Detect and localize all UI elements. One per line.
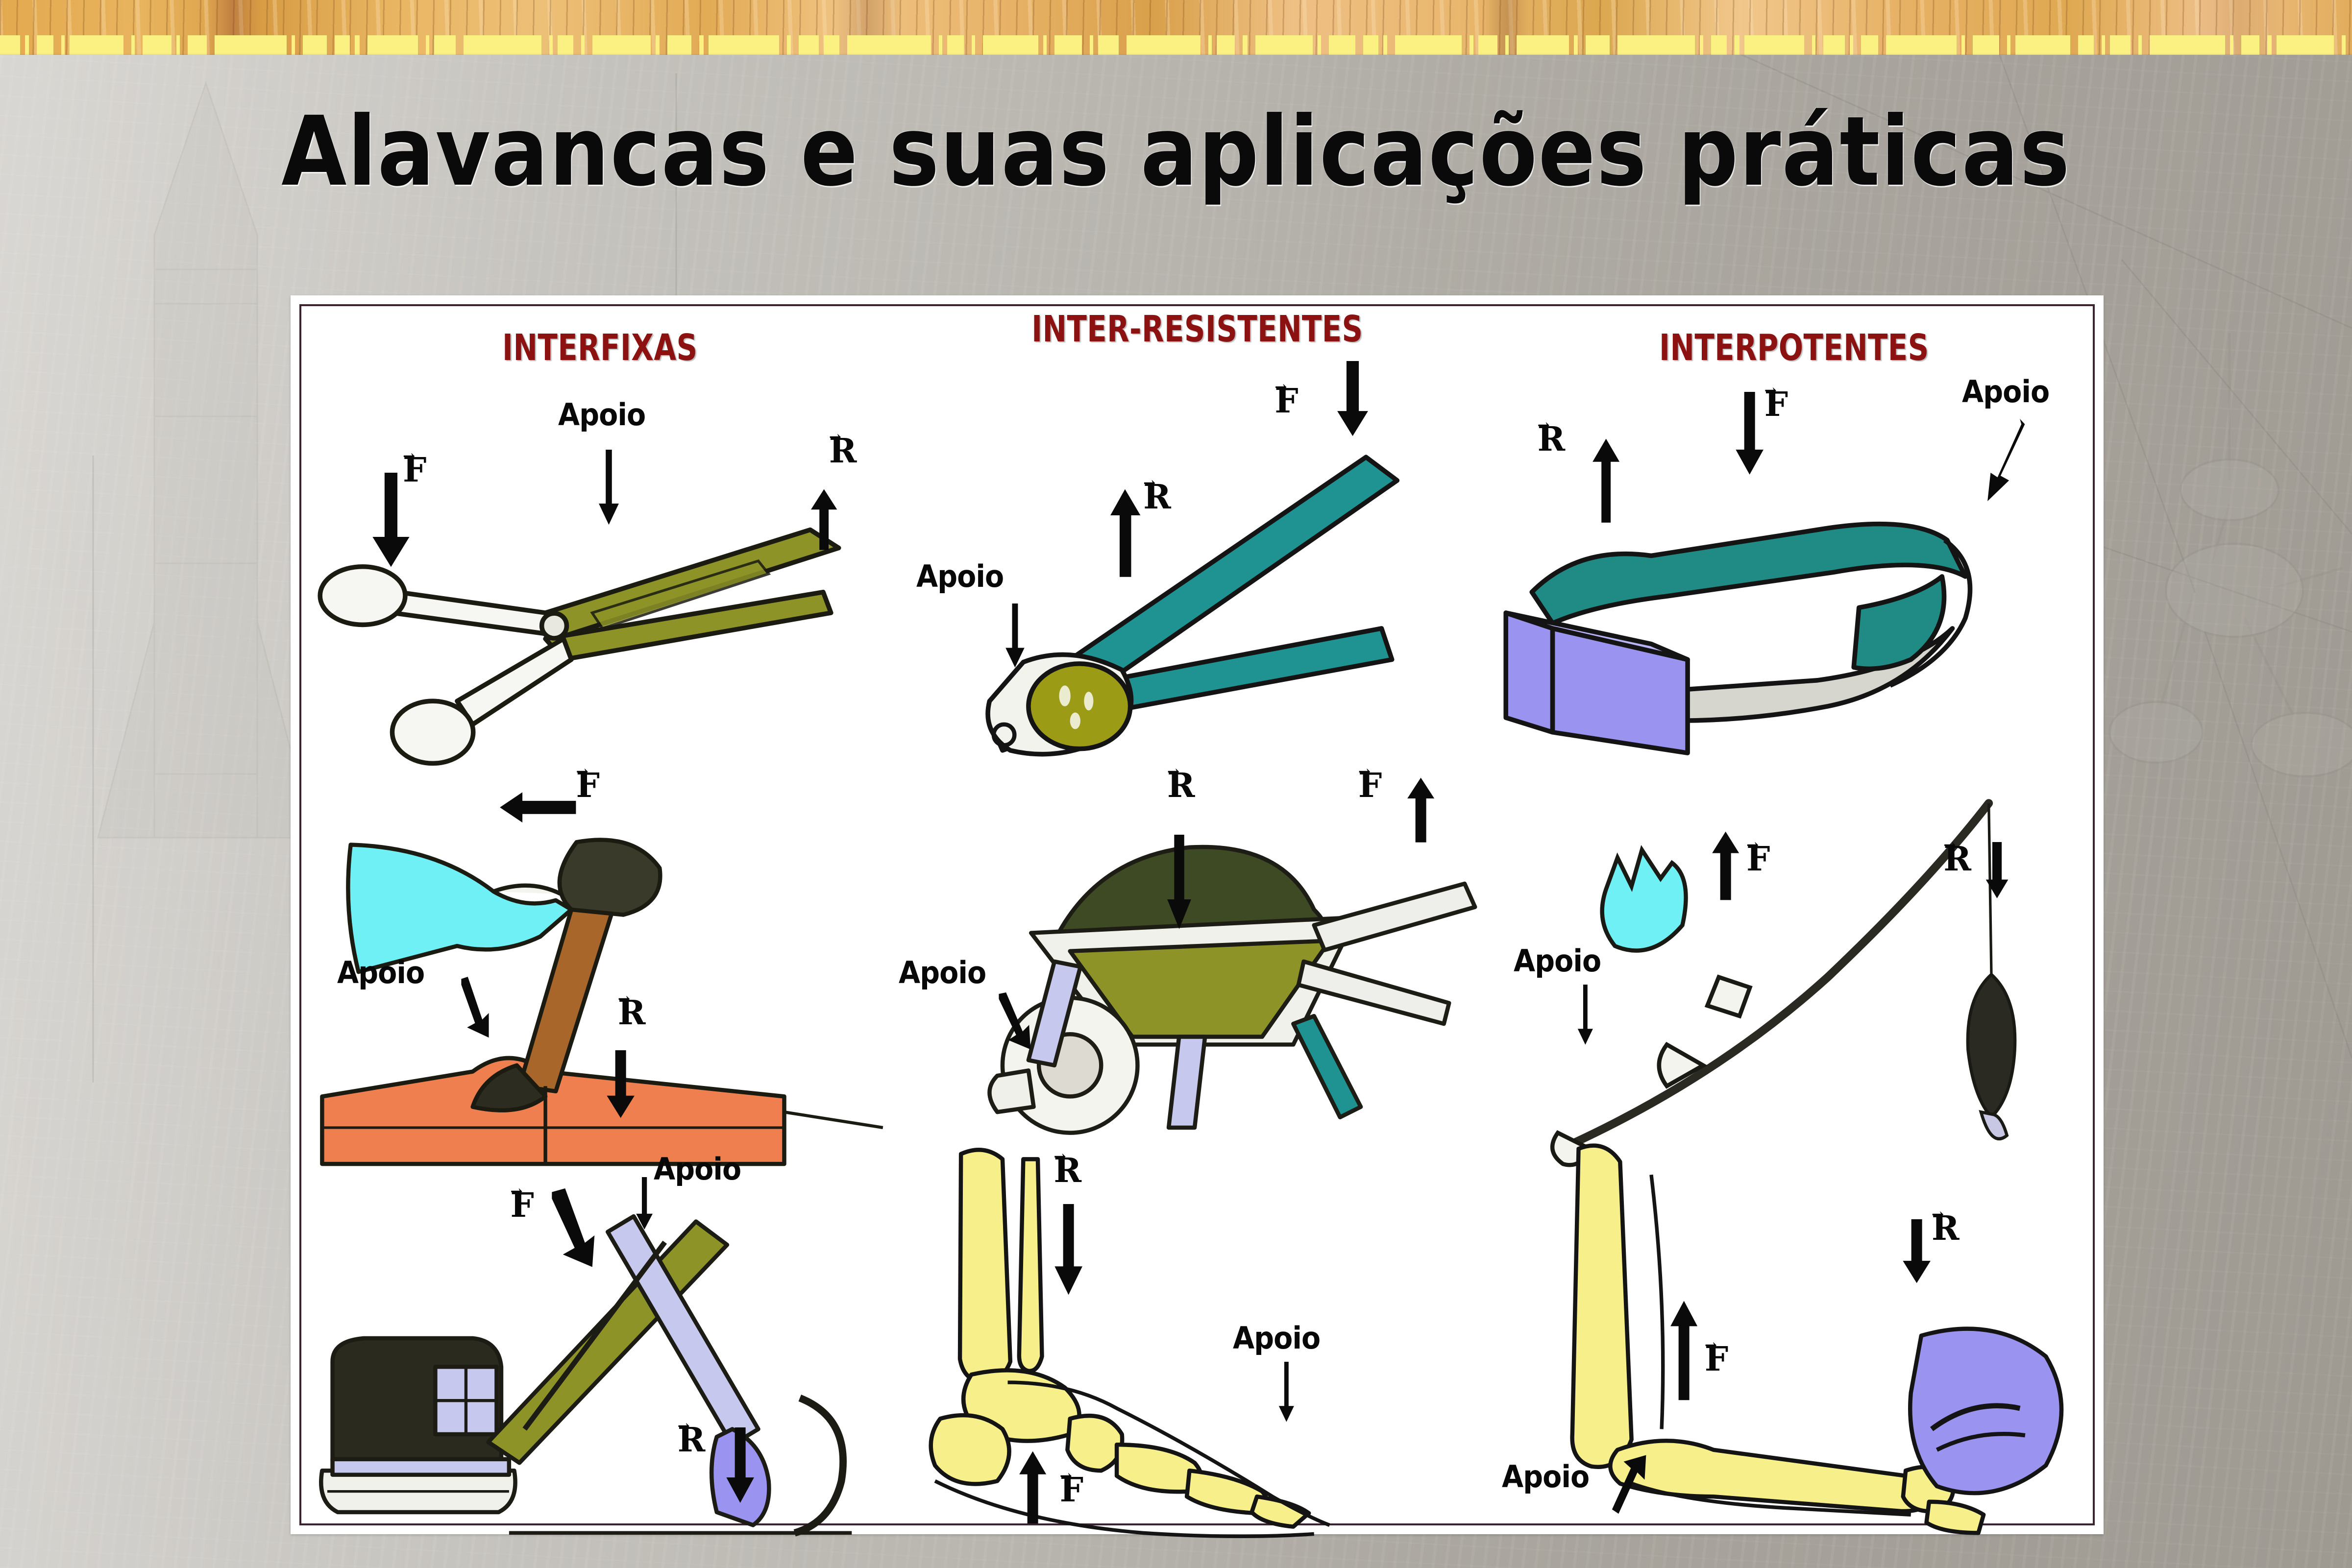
force-arrow-up-fishing-rod (1705, 831, 1746, 900)
banner-dash (2015, 35, 2070, 55)
banner-dash (426, 35, 429, 55)
resistance-label-hammer: → R (618, 992, 646, 1028)
banner-dash (1255, 35, 1313, 55)
banner-dash-strip (0, 35, 2352, 55)
banner-dash (1363, 35, 1379, 55)
banner-dash (1517, 35, 1569, 55)
column-header-interpotentes: INTERPOTENTES (1555, 327, 2033, 369)
apoio-label-hammer: Apoio (337, 958, 424, 988)
apoio-label-wheelbarrow: Apoio (899, 958, 986, 988)
resistance-label-scissors: → R (829, 431, 857, 466)
apoio-arrow-down-foot (1274, 1362, 1298, 1423)
banner-dash (367, 35, 417, 55)
banner-dash (1243, 35, 1248, 55)
apoio-arrow-down-right-wheelbarrow (988, 992, 1042, 1050)
banner-dash (2007, 35, 2010, 55)
banner-dash (1505, 35, 1509, 55)
banner-dash (215, 35, 286, 55)
lever-type-grid: INTERFIXAS INTER-RESISTENTES INTERPOTENT… (301, 306, 2093, 1523)
banner-dash (355, 35, 360, 55)
resistance-label-wheelbarrow: → R (1167, 765, 1195, 801)
force-arrow-left-hammer (498, 788, 576, 827)
banner-dash (709, 35, 779, 55)
banner-dash (1617, 35, 1695, 55)
banner-dash (1043, 35, 1047, 55)
force-label-fishing-rod: → F (1746, 839, 1770, 874)
resistance-arrow-down-foot (1048, 1204, 1089, 1297)
banner-dash (303, 35, 327, 55)
banner-dash (558, 35, 573, 55)
force-arrow-down-nutcracker (1328, 361, 1376, 438)
banner-dash (37, 35, 53, 55)
apoio-arrow-down-excavator (630, 1177, 660, 1231)
banner-dash (176, 35, 180, 55)
column-header-interfixas: INTERFIXAS (361, 327, 839, 369)
banner-dash (2078, 35, 2094, 55)
banner-dash (464, 35, 541, 55)
force-label-foot: → F (1060, 1470, 1083, 1505)
apoio-arrow-up-right-arm (1603, 1454, 1657, 1516)
banner-dash (1470, 35, 1473, 55)
resistance-arrow-down-fishing-rod (1979, 842, 2015, 900)
force-arrow-down-right-excavator (540, 1188, 606, 1269)
banner-dash (25, 35, 28, 55)
banner-dash (434, 35, 456, 55)
banner-dash (1886, 35, 1957, 55)
content-panel: INTERFIXAS INTER-RESISTENTES INTERPOTENT… (291, 295, 2104, 1534)
banner-dash (2342, 35, 2345, 55)
banner-dash (787, 35, 790, 55)
apoio-arrow-down-right-hammer (451, 977, 498, 1038)
resistance-arrow-down-wheelbarrow (1161, 835, 1197, 931)
apoio-arrow-down-left-stapler (1979, 419, 2033, 504)
cell-foot-skeleton: → R Apoio → F (899, 1138, 1496, 1523)
cell-stapler: → R → F Apoio (1495, 369, 2093, 754)
banner-dash (1973, 35, 1999, 55)
banner-dash (824, 35, 839, 55)
force-label-nutcracker: → F (1274, 381, 1298, 416)
cell-fishing-rod: → F → R Apoio (1495, 754, 2093, 1139)
apoio-label-foot: Apoio (1233, 1323, 1320, 1353)
resistance-arrow-down-arm (1896, 1219, 1937, 1285)
banner-dash (0, 35, 20, 55)
banner-dash (188, 35, 207, 55)
banner-dash (799, 35, 819, 55)
banner-dash (1329, 35, 1355, 55)
banner-dash (1318, 35, 1321, 55)
banner-dash (667, 35, 691, 55)
banner-dash (847, 35, 931, 55)
banner-dash (699, 35, 704, 55)
banner-dash (2241, 35, 2259, 55)
banner-dash (983, 35, 1038, 55)
foot-skeleton-illustration (899, 1138, 1496, 1564)
banner-dash (1217, 35, 1235, 55)
banner-dash (592, 35, 651, 55)
apoio-arrow-down-scissors (594, 450, 624, 527)
banner-dash (2102, 35, 2105, 55)
slide-canvas: Alavancas e suas aplicações práticas INT… (0, 0, 2352, 1568)
apoio-label-fishing-rod: Apoio (1514, 946, 1601, 976)
cell-arm-skeleton: → R → F Apoio (1495, 1138, 2093, 1523)
force-label-arm: → F (1705, 1339, 1728, 1375)
banner-dash (1127, 35, 1200, 55)
force-arrow-up-foot (1012, 1450, 1053, 1523)
resistance-label-excavator: → R (678, 1420, 706, 1455)
banner-dash (581, 35, 585, 55)
cell-hammer: → F Apoio → R (301, 754, 899, 1139)
banner-dash (1478, 35, 1497, 55)
banner-dash (1098, 35, 1118, 55)
banner-dash (1208, 35, 1212, 55)
resistance-arrow-up-scissors (803, 488, 845, 550)
banner-dash (1700, 35, 1703, 55)
apoio-label-excavator: Apoio (654, 1154, 741, 1184)
banner-dash (61, 35, 65, 55)
apoio-label-stapler: Apoio (1962, 377, 2049, 407)
banner-dash (2277, 35, 2334, 55)
column-header-inter-resistentes: INTER-RESISTENTES (958, 306, 1436, 369)
banner-dash (1744, 35, 1804, 55)
resistance-arrow-up-nutcracker (1102, 488, 1149, 577)
banner-bottom-shadow (0, 54, 2352, 55)
apoio-label-arm: Apoio (1502, 1462, 1589, 1492)
apoio-arrow-down-nutcracker (1000, 603, 1030, 669)
apoio-arrow-down-fishing-rod (1573, 985, 1597, 1046)
banner-dash (2150, 35, 2225, 55)
banner-dash (939, 35, 942, 55)
banner-dash (70, 35, 123, 55)
force-label-hammer: → F (576, 765, 600, 801)
force-arrow-up-wheelbarrow (1400, 777, 1442, 843)
banner-dash (947, 35, 964, 55)
apoio-label-scissors: Apoio (558, 400, 645, 430)
banner-dash (335, 35, 350, 55)
cell-wheelbarrow: → R → F Apoio (899, 754, 1496, 1139)
resistance-arrow-down-excavator (719, 1427, 761, 1504)
banner-dash (1812, 35, 1815, 55)
apoio-label-nutcracker: Apoio (916, 561, 1004, 592)
cell-excavator: → F Apoio → R (301, 1138, 899, 1523)
cell-nutcracker: → F → R Apoio (899, 369, 1496, 754)
banner-dash (1586, 35, 1610, 55)
content-panel-inner: INTERFIXAS INTER-RESISTENTES INTERPOTENT… (299, 304, 2095, 1525)
banner-dash (1395, 35, 1462, 55)
force-arrow-down-stapler (1729, 392, 1770, 477)
page-title: Alavancas e suas aplicações práticas (141, 96, 2211, 208)
banner-dash (1850, 35, 1853, 55)
top-banner (0, 0, 2352, 55)
force-label-excavator: → F (511, 1185, 534, 1221)
banner-dash (2230, 35, 2233, 55)
banner-dash (1861, 35, 1878, 55)
banner-dash (1735, 35, 1739, 55)
banner-dash (1574, 35, 1577, 55)
banner-dash (1961, 35, 1965, 55)
banner-dash (292, 35, 295, 55)
force-arrow-up-arm (1663, 1300, 1705, 1400)
banner-dash (143, 35, 171, 55)
banner-dash (1823, 35, 1845, 55)
banner-dash (2138, 35, 2142, 55)
banner-dash (1383, 35, 1387, 55)
resistance-label-fishing-rod: → R (1943, 839, 1971, 874)
banner-dash (549, 35, 553, 55)
force-arrow-down-scissors (361, 473, 421, 569)
cell-scissors: → F Apoio → R (301, 369, 899, 754)
arm-skeleton-illustration (1495, 1138, 2093, 1564)
banner-dash (972, 35, 975, 55)
banner-dash (1711, 35, 1727, 55)
resistance-label-foot: → R (1054, 1150, 1082, 1186)
banner-dash (1090, 35, 1093, 55)
resistance-arrow-down-hammer (600, 1050, 641, 1119)
resistance-label-stapler: → R (1538, 419, 1566, 455)
banner-dash (2110, 35, 2130, 55)
banner-dash (656, 35, 659, 55)
banner-dash (131, 35, 135, 55)
banner-dash (2267, 35, 2272, 55)
banner-dash (1054, 35, 1082, 55)
force-label-wheelbarrow: → F (1358, 765, 1382, 801)
resistance-arrow-up-stapler (1585, 438, 1627, 523)
